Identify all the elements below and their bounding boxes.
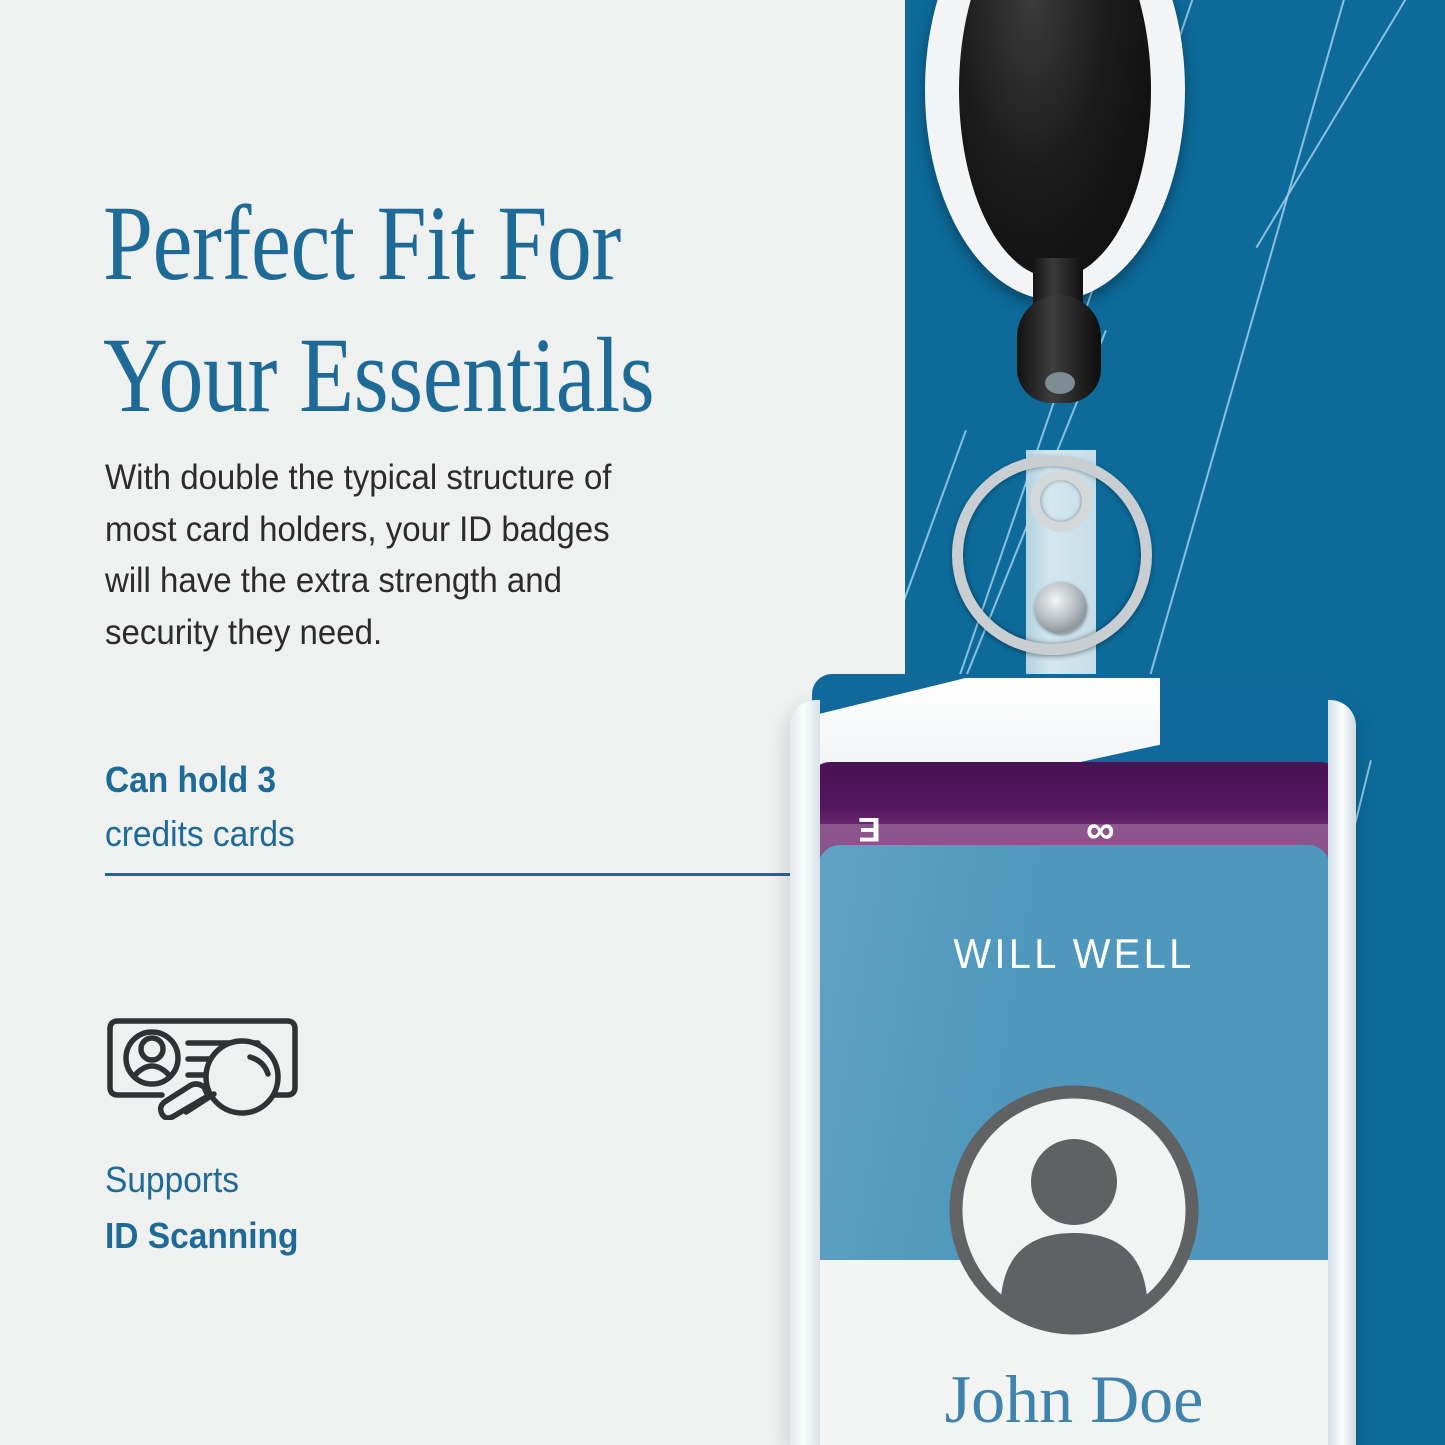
feature-capacity-regular-label: credits cards (105, 807, 700, 861)
reel-face (959, 0, 1151, 278)
reel-hook-hole (1045, 372, 1075, 394)
feature-card-capacity: Can hold 3 credits cards (105, 753, 700, 861)
person-avatar-icon (949, 1085, 1199, 1335)
feature-scanning-regular-label: Supports (105, 1152, 533, 1208)
feature-id-scanning: Supports ID Scanning (105, 1152, 533, 1264)
id-scan-icon (100, 995, 305, 1120)
callout-connector-line (105, 873, 814, 876)
strap-grommet-ring (1030, 470, 1092, 532)
id-badge-name: John Doe (818, 1363, 1330, 1435)
card-holder-left-rim (790, 700, 820, 1445)
id-badge-brand: WILL WELL (831, 930, 1317, 978)
description-text: With double the typical structure of mos… (105, 452, 644, 658)
feature-scanning-strong-label: ID Scanning (105, 1208, 533, 1264)
id-badge-card: WILL WELL John Doe (818, 845, 1330, 1445)
card-holder-right-rim (1328, 700, 1356, 1445)
product-feature-graphic: Perfect Fit For Your Essentials With dou… (0, 0, 1445, 1445)
purple-card-glyph-left: E (858, 812, 881, 846)
page-title: Perfect Fit For Your Essentials (103, 178, 691, 442)
purple-card-glyph-center: ∞ (1086, 810, 1115, 850)
strap-snap-button (1035, 582, 1087, 634)
feature-capacity-strong-label: Can hold 3 (105, 753, 700, 807)
badge-reel-icon (905, 0, 1235, 440)
reel-housing (925, 0, 1185, 300)
